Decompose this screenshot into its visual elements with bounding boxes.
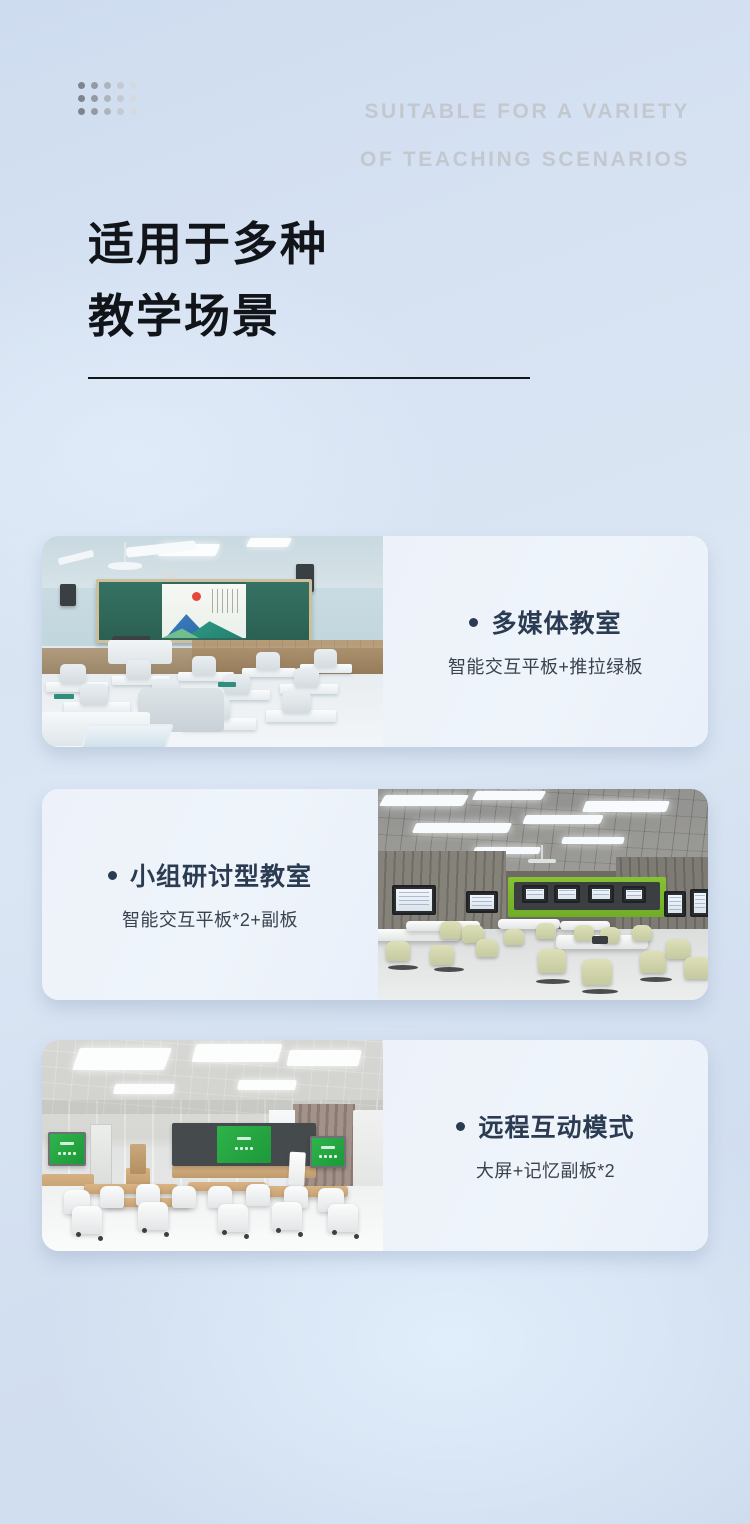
multimedia-classroom-photo	[42, 536, 383, 747]
scenario-text-multimedia-classroom: 多媒体教室 智能交互平板+推拉绿板	[383, 536, 708, 747]
header-eyebrow: SUITABLE FOR A VARIETY OF TEACHING SCENA…	[360, 76, 690, 196]
bullet-icon	[456, 1122, 465, 1131]
scenario-card-multimedia-classroom[interactable]: 多媒体教室 智能交互平板+推拉绿板	[42, 536, 708, 747]
scenario-card-remote-interactive-mode[interactable]: 远程互动模式 大屏+记忆副板*2	[42, 1040, 708, 1251]
scenario-heading-row: 远程互动模式	[456, 1108, 634, 1144]
scenario-text-remote-interactive-mode: 远程互动模式 大屏+记忆副板*2	[383, 1040, 708, 1251]
scenario-card-group-discussion-classroom[interactable]: 小组研讨型教室 智能交互平板*2+副板	[42, 789, 708, 1000]
page-title-line-1: 适用于多种	[88, 208, 648, 280]
remote-interactive-classroom-photo	[42, 1040, 383, 1251]
group-discussion-classroom-photo	[378, 789, 708, 1000]
page-header: SUITABLE FOR A VARIETY OF TEACHING SCENA…	[0, 0, 750, 150]
header-eyebrow-line-2: OF TEACHING SCENARIOS	[360, 148, 690, 172]
scenario-heading: 小组研讨型教室	[130, 857, 312, 893]
scenario-text-group-discussion-classroom: 小组研讨型教室 智能交互平板*2+副板	[42, 789, 378, 1000]
dot-grid-icon	[78, 82, 143, 121]
scenario-subtext: 大屏+记忆副板*2	[476, 1157, 615, 1183]
scenario-subtext: 智能交互平板*2+副板	[122, 906, 298, 932]
title-divider	[88, 377, 530, 379]
scenario-heading: 多媒体教室	[491, 604, 621, 640]
page-title: 适用于多种 教学场景	[88, 208, 648, 352]
scenario-subtext: 智能交互平板+推拉绿板	[448, 653, 643, 679]
page-title-line-2: 教学场景	[88, 280, 648, 352]
bullet-icon	[469, 618, 478, 627]
header-eyebrow-line-1: SUITABLE FOR A VARIETY	[360, 100, 690, 124]
scenario-heading: 远程互动模式	[478, 1108, 634, 1144]
scenario-heading-row: 多媒体教室	[469, 604, 621, 640]
scenario-heading-row: 小组研讨型教室	[108, 857, 312, 893]
bullet-icon	[108, 871, 117, 880]
